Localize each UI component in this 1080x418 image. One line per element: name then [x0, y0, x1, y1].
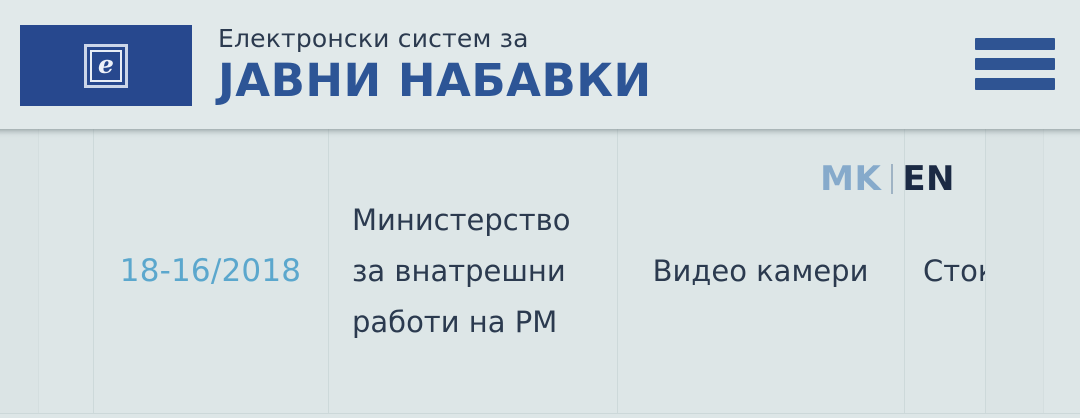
e-logo-outer-frame: e	[84, 44, 128, 88]
table-row-bottom-border	[0, 413, 1080, 414]
language-option-mk[interactable]: MK	[820, 160, 881, 198]
table-right-gutter	[986, 129, 1043, 413]
table-cell-contracting-authority: Министерство за внатрешни работи на РМ	[329, 129, 616, 413]
brand-title: ЈАВНИ НАБАВКИ	[218, 55, 918, 107]
site-header: e Електронски систем за ЈАВНИ НАБАВКИ	[0, 0, 1080, 129]
contracting-authority-line-1: Министерство	[352, 195, 570, 246]
e-logo-icon[interactable]: e	[20, 25, 192, 106]
hamburger-bar-1	[975, 38, 1055, 50]
table-cell-notice-number: 18-16/2018	[94, 129, 327, 413]
contracting-authority-line-2: за внатрешни	[352, 246, 570, 297]
hamburger-bar-2	[975, 58, 1055, 70]
column-rule-5	[985, 129, 986, 413]
column-rule-6	[1043, 129, 1044, 413]
brand-tagline: Електронски систем за	[218, 24, 918, 54]
content-area: 18-16/2018 Министерство за внатрешни раб…	[0, 129, 1080, 418]
hamburger-bar-3	[975, 78, 1055, 90]
subject-text: Видео камери	[653, 253, 869, 289]
page-viewport: 18-16/2018 Министерство за внатрешни раб…	[0, 0, 1080, 418]
table-left-gutter	[0, 129, 38, 413]
language-separator	[891, 164, 893, 194]
language-option-en[interactable]: EN	[902, 160, 955, 198]
e-logo-inner-frame: e	[90, 50, 122, 82]
column-rule-0	[38, 129, 39, 413]
hamburger-menu-icon[interactable]	[975, 38, 1055, 90]
brand-text-block: Електронски систем за ЈАВНИ НАБАВКИ	[218, 24, 918, 107]
notice-number-link[interactable]: 18-16/2018	[120, 253, 301, 289]
procurement-type-text: Стоки	[923, 253, 985, 289]
contracting-authority-line-3: работи на РМ	[352, 297, 570, 348]
language-switcher: MK EN	[820, 160, 955, 198]
e-logo-glyph: e	[98, 52, 114, 77]
